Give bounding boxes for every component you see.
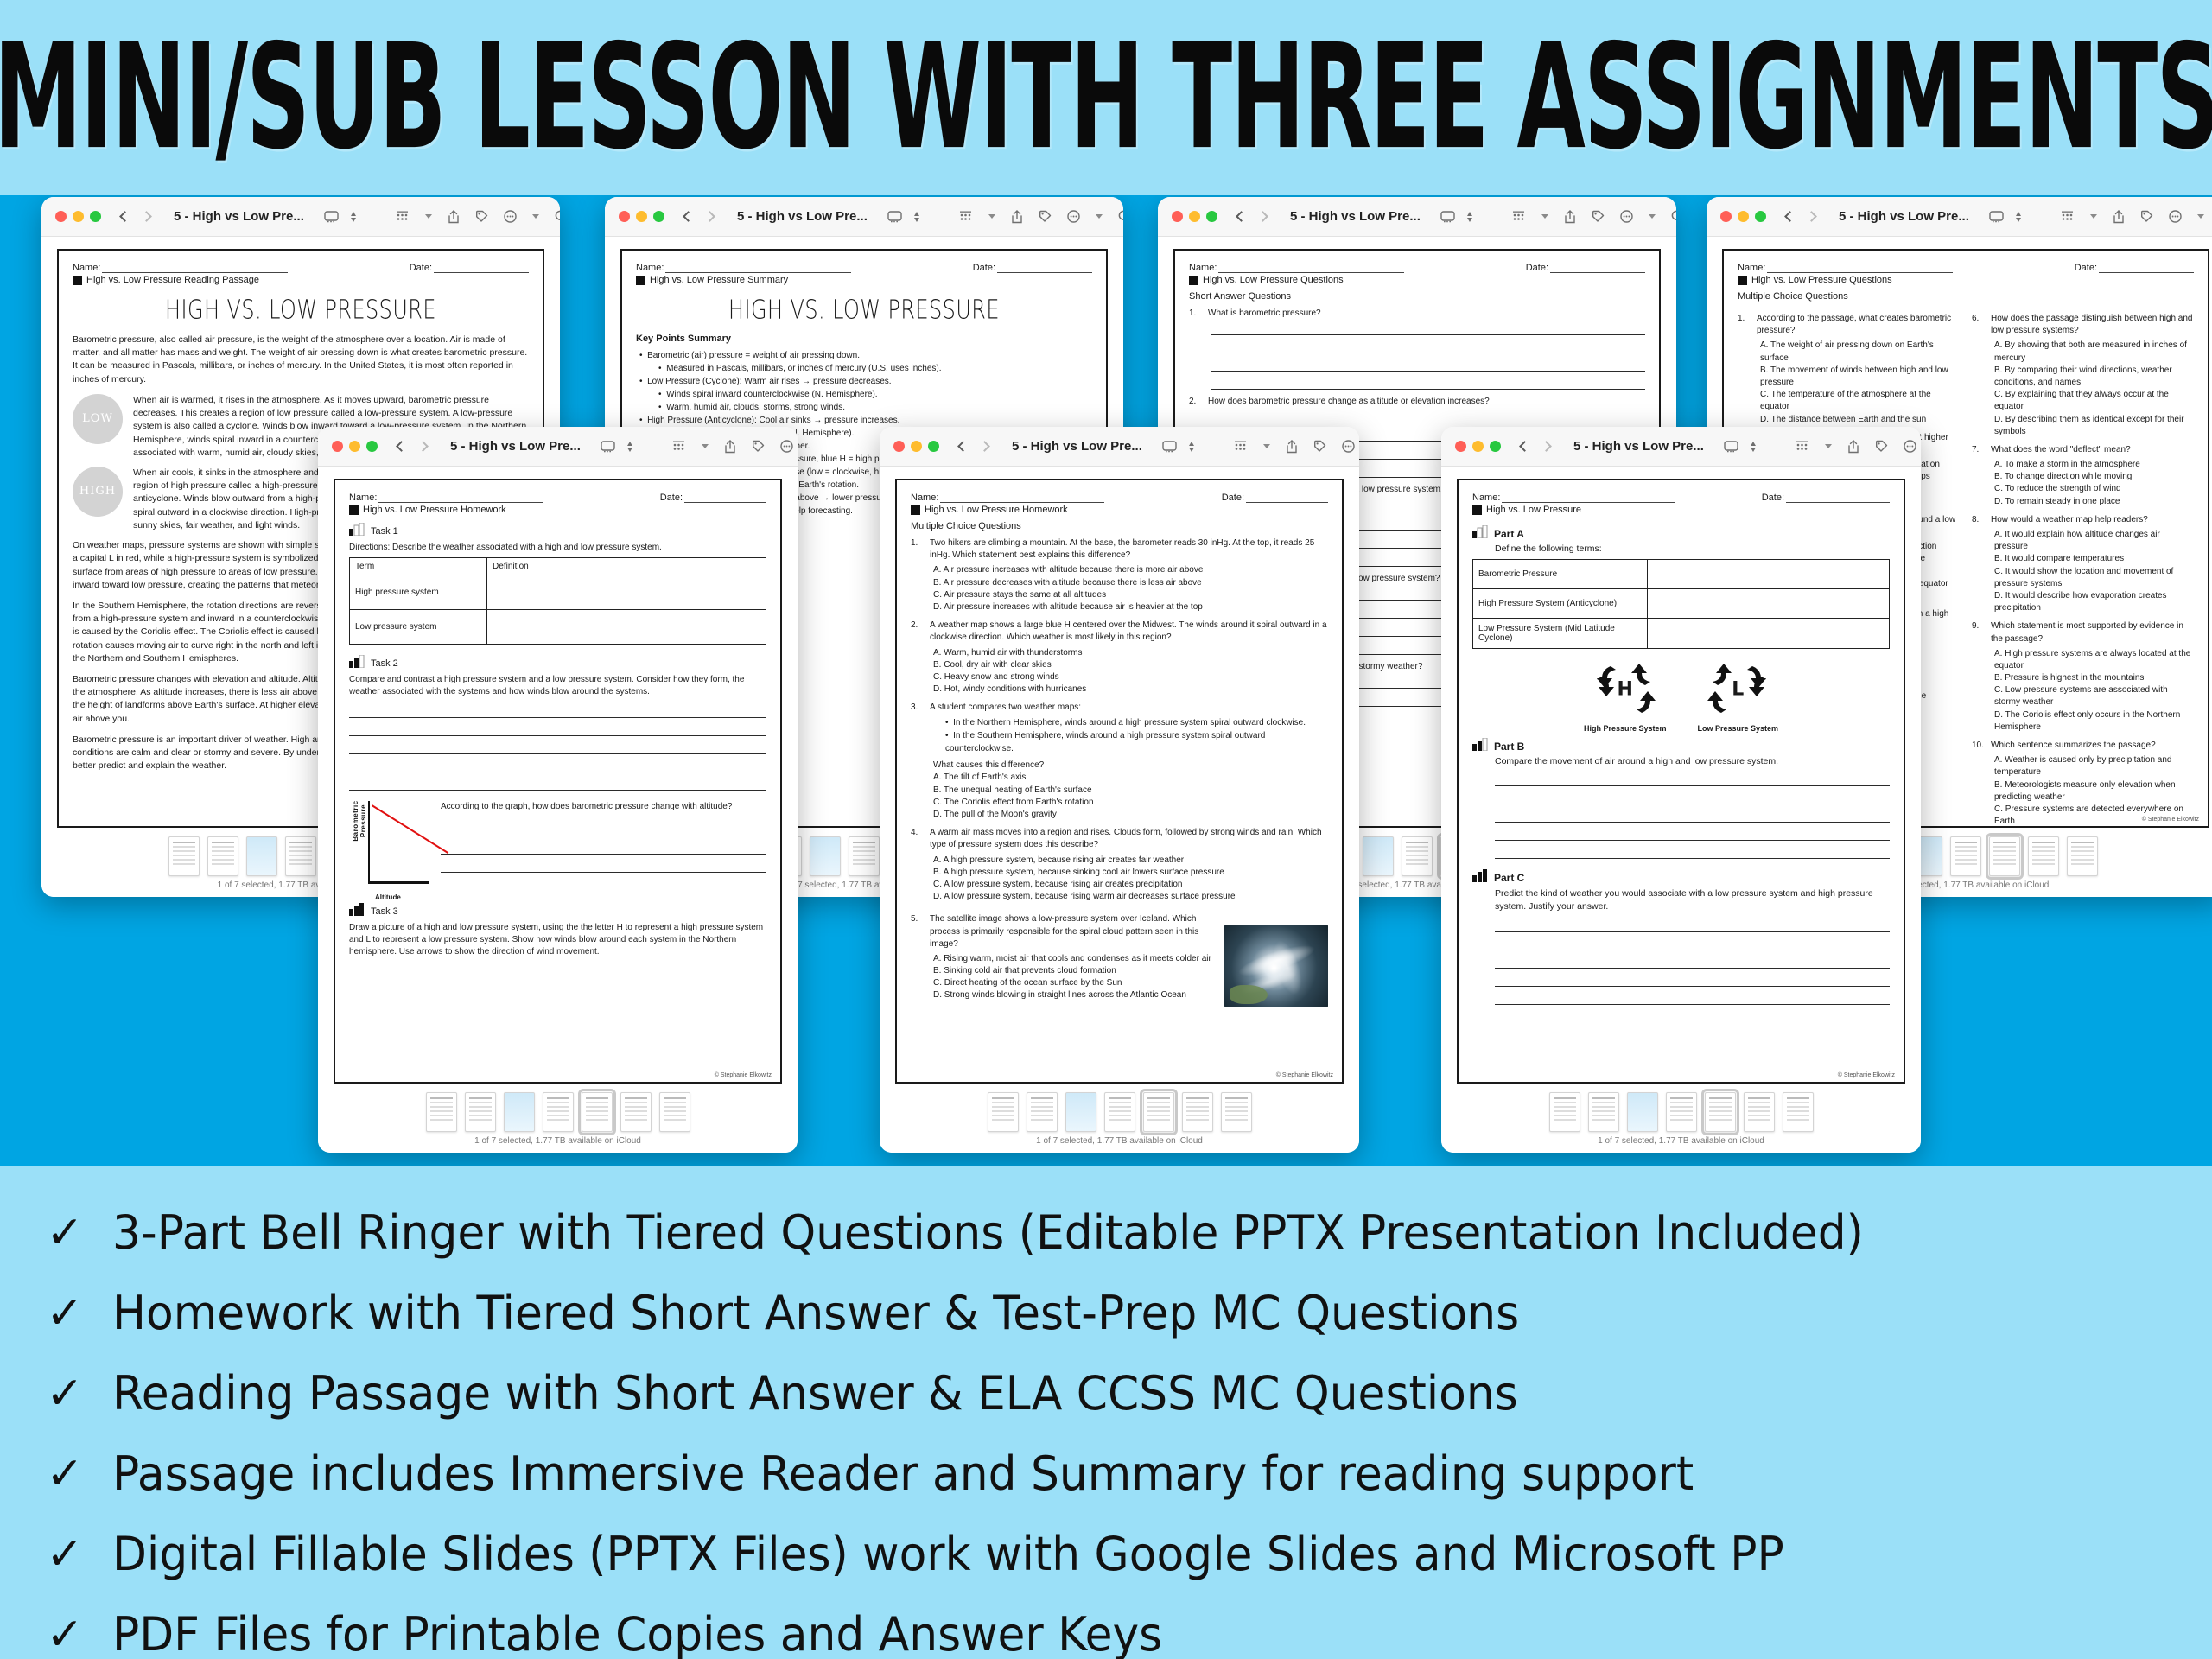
option-list: A. The weight of air pressing down on Ea… [1760, 340, 1960, 425]
feature-item: ✓ Passage includes Immersive Reader and … [45, 1433, 2160, 1514]
table-cell-definition[interactable] [1648, 560, 1890, 589]
question-item: 2.How does barometric pressure change as… [1189, 396, 1645, 408]
option-list: A. Rising warm, moist air that cools and… [933, 953, 1216, 1002]
window-toolbar: 5 - High vs Low Pre... [1158, 197, 1676, 237]
check-icon: ✓ [45, 1291, 85, 1336]
thumbnail-item-selected[interactable] [1705, 1092, 1736, 1132]
more-ellipsis-icon[interactable] [1342, 440, 1355, 453]
thumbnail-strip[interactable] [318, 1087, 798, 1134]
sub-bullet: • In the Southern Hemisphere, winds arou… [945, 729, 1328, 755]
thumbnail-item[interactable] [1221, 1092, 1252, 1132]
thumbnail-item[interactable] [285, 836, 316, 876]
thumbnail-item[interactable] [504, 1092, 535, 1132]
nav-buttons[interactable] [1237, 213, 1267, 220]
option-item[interactable]: D. By describing them as identical excep… [1994, 414, 2194, 438]
thumbnail-item[interactable] [1549, 1092, 1580, 1132]
option-item[interactable]: C. Low pressure systems are associated w… [1994, 684, 2194, 709]
back-chevron-icon[interactable] [1236, 211, 1247, 222]
stepper-icon[interactable] [2016, 212, 2021, 222]
option-item[interactable]: C. Direct heating of the ocean surface b… [933, 977, 1216, 989]
forward-chevron-icon[interactable] [979, 441, 990, 452]
display-icon[interactable] [1162, 441, 1177, 453]
window-title: 5 - High vs Low Pre... [450, 439, 581, 454]
forward-chevron-icon[interactable] [704, 211, 715, 222]
back-chevron-icon[interactable] [1519, 441, 1530, 452]
option-item[interactable]: A. It would explain how altitude changes… [1994, 529, 2194, 553]
more-ellipsis-icon[interactable] [1904, 440, 1916, 453]
display-icon[interactable] [887, 211, 902, 223]
option-item[interactable]: A. Weather is caused only by precipitati… [1994, 754, 2194, 779]
stepper-icon[interactable] [351, 212, 356, 222]
close-icon[interactable] [1720, 211, 1732, 222]
traffic-lights[interactable] [1720, 211, 1766, 222]
grid-view-icon[interactable] [397, 211, 410, 223]
nav-buttons[interactable] [397, 442, 427, 450]
option-item[interactable]: C. It would show the location and moveme… [1994, 566, 2194, 590]
graph-block: Barometric Pressure Altitude According t… [349, 801, 766, 891]
thumbnail-strip[interactable] [1441, 1087, 1921, 1134]
minimize-icon[interactable] [1189, 211, 1200, 222]
share-icon[interactable] [1564, 210, 1576, 224]
task-label: Task 2 [371, 658, 398, 669]
window-toolbar: 5 - High vs Low Pre... [1707, 197, 2212, 237]
window-toolbar: 5 - High vs Low Pre... [880, 427, 1359, 467]
thumbnail-item[interactable] [1666, 1092, 1697, 1132]
thumbnail-item[interactable] [246, 836, 277, 876]
part-label: Part A [1494, 528, 1524, 540]
answer-line[interactable] [1495, 773, 1890, 786]
table-row: High pressure system [350, 575, 766, 610]
stepper-icon[interactable] [1467, 212, 1472, 222]
close-icon[interactable] [619, 211, 630, 222]
traffic-lights[interactable] [55, 211, 101, 222]
grid-view-icon[interactable] [1796, 441, 1809, 453]
option-list: A. A high pressure system, because risin… [933, 855, 1328, 904]
close-icon[interactable] [1172, 211, 1183, 222]
high-pressure-diagram: H High Pressure System [1584, 658, 1667, 733]
traffic-lights[interactable] [893, 441, 939, 452]
worksheet-subtitle-row: High vs. Low Pressure [1472, 505, 1890, 515]
option-item[interactable]: A. To make a storm in the atmosphere [1994, 459, 2194, 471]
option-list: A. It would explain how altitude changes… [1994, 529, 2194, 614]
maximize-icon[interactable] [1755, 211, 1766, 222]
answer-line[interactable] [349, 723, 766, 736]
option-item[interactable]: B. It would compare temperatures [1994, 553, 2194, 565]
document-preview[interactable]: Name: Date: High vs. Low Pressure Homewo… [880, 467, 1359, 1087]
option-item[interactable]: B. Air pressure decreases with altitude … [933, 577, 1328, 589]
search-icon[interactable] [555, 210, 560, 223]
back-chevron-icon[interactable] [957, 441, 969, 452]
answer-line[interactable] [1495, 828, 1890, 841]
feature-text: PDF Files for Printable Copies and Answe… [112, 1607, 1162, 1659]
option-list: A. Warm, humid air with thunderstorms B.… [933, 647, 1328, 696]
partA-directions: Define the following terms: [1495, 543, 1890, 554]
option-item[interactable]: C. A low pressure system, because rising… [933, 879, 1328, 891]
search-icon[interactable] [1118, 210, 1123, 223]
back-chevron-icon[interactable] [119, 211, 130, 222]
forward-chevron-icon[interactable] [417, 441, 429, 452]
answer-line[interactable] [441, 823, 766, 836]
header-band: MINI/SUB LESSON WITH THREE ASSIGNMENTS [0, 0, 2212, 195]
list-item: • Measured in Pascals, millibars, or inc… [658, 362, 1092, 375]
table-header-cell: Definition [487, 558, 766, 575]
grid-view-icon[interactable] [1235, 441, 1248, 453]
feature-text: 3-Part Bell Ringer with Tiered Questions… [112, 1205, 1864, 1260]
option-item[interactable]: D. The Coriolis effect only occurs in th… [1994, 709, 2194, 734]
stepper-icon[interactable] [627, 442, 632, 452]
option-item[interactable]: A. The tilt of Earth's axis [933, 772, 1328, 784]
close-icon[interactable] [893, 441, 905, 452]
x-axis-label: Altitude [375, 893, 401, 901]
option-item[interactable]: A. By showing that both are measured in … [1994, 340, 2194, 364]
minimize-icon[interactable] [349, 441, 360, 452]
list-item: • Warm, humid air, clouds, storms, stron… [658, 401, 1092, 414]
maximize-icon[interactable] [1206, 211, 1217, 222]
chevron-down-icon[interactable] [1263, 444, 1270, 448]
option-list: A. To make a storm in the atmosphere B. … [1994, 459, 2194, 508]
option-item[interactable]: C. The Coriolis effect from Earth's rota… [933, 797, 1328, 809]
high-pressure-badge: HIGH [73, 467, 123, 517]
name-date-row: Name: Date: [73, 263, 529, 273]
option-item[interactable]: A. The weight of air pressing down on Ea… [1760, 340, 1960, 364]
answer-line[interactable] [349, 778, 766, 791]
option-item[interactable]: A. Warm, humid air with thunderstorms [933, 647, 1328, 659]
option-item[interactable]: D. Strong winds blowing in straight line… [933, 989, 1216, 1001]
maximize-icon[interactable] [366, 441, 378, 452]
thumbnail-item[interactable] [1950, 836, 1981, 876]
option-item[interactable]: C. Pressure systems are detected everywh… [1994, 804, 2194, 828]
more-ellipsis-icon[interactable] [780, 440, 793, 453]
thumbnail-item[interactable] [1783, 1092, 1814, 1132]
thumbnail-item[interactable] [1363, 836, 1394, 876]
answer-line[interactable] [1495, 810, 1890, 823]
share-icon[interactable] [1847, 440, 1859, 454]
tag-icon[interactable] [752, 440, 765, 453]
high-pressure-letter: H [1618, 679, 1633, 701]
answer-line[interactable] [349, 741, 766, 754]
nav-buttons[interactable] [959, 442, 988, 450]
thumbnail-item[interactable] [849, 836, 880, 876]
share-icon[interactable] [1011, 210, 1023, 224]
thumbnail-item-selected[interactable] [1989, 836, 2020, 876]
nav-buttons[interactable] [684, 213, 714, 220]
search-icon[interactable] [1671, 210, 1676, 223]
part-label: Part B [1494, 741, 1524, 753]
tag-icon[interactable] [2140, 210, 2153, 223]
traffic-lights[interactable] [1455, 441, 1501, 452]
question-item: 6.How does the passage distinguish betwe… [1972, 313, 2194, 337]
option-item[interactable]: D. A low pressure system, because rising… [933, 891, 1328, 903]
answer-line[interactable] [1211, 359, 1645, 372]
chevron-down-icon[interactable] [532, 214, 539, 219]
passage-paragraph-1: Barometric pressure, also called air pre… [73, 334, 529, 386]
question-item: 9.Which statement is most supported by e… [1972, 620, 2194, 645]
minimize-icon[interactable] [1738, 211, 1749, 222]
option-item[interactable]: B. Sinking cold air that prevents cloud … [933, 965, 1216, 977]
worksheet-subtitle-row: High vs. Low Pressure Reading Passage [73, 275, 529, 285]
task1-directions: Directions: Describe the weather associa… [349, 543, 766, 552]
back-chevron-icon[interactable] [683, 211, 694, 222]
thumbnail-strip[interactable] [880, 1087, 1359, 1134]
table-cell-definition[interactable] [487, 575, 766, 610]
thumbnail-item[interactable] [543, 1092, 574, 1132]
name-label: Name: [73, 263, 100, 273]
display-icon[interactable] [601, 441, 615, 453]
answer-line[interactable] [1211, 340, 1645, 353]
thumbnail-item[interactable] [1627, 1092, 1658, 1132]
option-item[interactable]: A. A high pressure system, because risin… [933, 855, 1328, 867]
option-item[interactable]: C. The temperature of the atmosphere at … [1760, 389, 1960, 413]
chevron-down-icon[interactable] [1541, 214, 1548, 219]
share-icon[interactable] [448, 210, 460, 224]
forward-chevron-icon[interactable] [1257, 211, 1268, 222]
name-label: Name: [349, 493, 377, 503]
chevron-down-icon[interactable] [425, 214, 432, 219]
name-label: Name: [1738, 263, 1765, 273]
chevron-down-icon[interactable] [1825, 444, 1832, 448]
grid-view-icon[interactable] [960, 211, 973, 223]
window-toolbar: 5 - High vs Low Pre... [605, 197, 1123, 237]
option-item[interactable]: B. Cool, dry air with clear skies [933, 659, 1328, 671]
name-date-row: Name: Date: [636, 263, 1092, 273]
bar-chart-icon [349, 523, 365, 540]
thumbnail-item-selected[interactable] [582, 1092, 613, 1132]
low-pressure-caption: Low Pressure System [1698, 724, 1779, 733]
option-item[interactable]: A. Air pressure increases with altitude … [933, 564, 1328, 576]
feature-item: ✓ PDF Files for Printable Copies and Ans… [45, 1594, 2160, 1659]
task-label: Task 1 [371, 526, 398, 537]
more-ellipsis-icon[interactable] [504, 210, 517, 223]
y-axis [368, 801, 370, 884]
grid-view-icon[interactable] [2062, 211, 2075, 223]
share-icon[interactable] [1286, 440, 1298, 454]
grid-view-icon[interactable] [1513, 211, 1526, 223]
tag-icon[interactable] [1875, 440, 1888, 453]
answer-line[interactable] [1495, 791, 1890, 804]
more-ellipsis-icon[interactable] [2169, 210, 2182, 223]
minimize-icon[interactable] [636, 211, 647, 222]
bar-chart-icon [1472, 738, 1488, 755]
document-preview[interactable]: Name: Date: High vs. Low Pressure Part A [1441, 467, 1921, 1087]
chevron-down-icon[interactable] [702, 444, 709, 448]
thumbnail-item[interactable] [2028, 836, 2059, 876]
answer-line[interactable] [1495, 974, 1890, 987]
answer-line[interactable] [1495, 956, 1890, 969]
answer-line[interactable] [349, 760, 766, 772]
table-cell-definition[interactable] [1648, 589, 1890, 619]
worksheet-subtitle-row: High vs. Low Pressure Questions [1189, 275, 1645, 285]
traffic-lights[interactable] [619, 211, 664, 222]
display-icon[interactable] [1989, 211, 2004, 223]
stepper-icon[interactable] [1189, 442, 1194, 452]
answer-line[interactable] [1495, 992, 1890, 1005]
trend-line [372, 804, 448, 854]
chevron-down-icon[interactable] [2197, 214, 2204, 219]
task3-directions: Draw a picture of a high and low pressur… [349, 922, 766, 958]
back-chevron-icon[interactable] [396, 441, 407, 452]
stepper-icon[interactable] [1751, 442, 1756, 452]
option-item[interactable]: A. Rising warm, moist air that cools and… [933, 953, 1216, 965]
grid-view-icon[interactable] [673, 441, 686, 453]
status-bar: 1 of 7 selected, 1.77 TB available on iC… [318, 1134, 798, 1153]
chevron-down-icon[interactable] [1649, 214, 1656, 219]
answer-line[interactable] [441, 842, 766, 855]
option-item[interactable]: D. To remain steady in one place [1994, 496, 2194, 508]
display-icon[interactable] [1440, 211, 1455, 223]
question-item: 4.A warm air mass moves into a region an… [911, 827, 1328, 851]
finder-window-bell-ringer[interactable]: 5 - High vs Low Pre... [1441, 427, 1921, 1153]
chevron-down-icon[interactable] [1096, 214, 1103, 219]
square-bullet-icon [911, 505, 920, 515]
thumbnail-item[interactable] [168, 836, 200, 876]
thumbnail-item[interactable] [207, 836, 238, 876]
display-icon[interactable] [324, 211, 339, 223]
feature-text: Digital Fillable Slides (PPTX Files) wor… [112, 1527, 1784, 1581]
feature-item: ✓ Homework with Tiered Short Answer & Te… [45, 1273, 2160, 1353]
forward-chevron-icon[interactable] [1806, 211, 1817, 222]
task1-header: Task 1 [349, 523, 766, 540]
maximize-icon[interactable] [928, 441, 939, 452]
check-icon: ✓ [45, 1211, 85, 1255]
option-item[interactable]: B. A high pressure system, because sinki… [933, 867, 1328, 879]
answer-line[interactable] [1495, 846, 1890, 859]
name-date-row: Name: Date: [1189, 263, 1645, 273]
name-date-row: Name: Date: [349, 493, 766, 503]
option-item[interactable]: D. It would describe how evaporation cre… [1994, 590, 2194, 614]
answer-line[interactable] [1495, 938, 1890, 950]
table-row: Barometric Pressure [1473, 560, 1890, 589]
minimize-icon[interactable] [73, 211, 84, 222]
maximize-icon[interactable] [90, 211, 101, 222]
thumbnail-item[interactable] [426, 1092, 457, 1132]
option-item[interactable]: A. High pressure systems are always loca… [1994, 648, 2194, 672]
option-item[interactable]: B. To change direction while moving [1994, 471, 2194, 483]
more-ellipsis-icon[interactable] [1067, 210, 1080, 223]
option-item[interactable]: C. Heavy snow and strong winds [933, 671, 1328, 683]
thumbnail-item[interactable] [988, 1092, 1019, 1132]
square-bullet-icon [73, 276, 82, 285]
option-item[interactable]: C. Air pressure stays the same at all al… [933, 589, 1328, 601]
feature-item: ✓ Reading Passage with Short Answer & EL… [45, 1353, 2160, 1433]
back-chevron-icon[interactable] [1784, 211, 1796, 222]
forward-chevron-icon[interactable] [141, 211, 152, 222]
thumbnail-item-selected[interactable] [1143, 1092, 1174, 1132]
nav-buttons[interactable] [1521, 442, 1550, 450]
feature-text: Homework with Tiered Short Answer & Test… [112, 1286, 1519, 1340]
thumbnail-item[interactable] [465, 1092, 496, 1132]
thumbnail-item[interactable] [1402, 836, 1433, 876]
answer-line[interactable] [1211, 410, 1645, 423]
finder-window-homework-mc[interactable]: 5 - High vs Low Pre... [880, 427, 1359, 1153]
close-icon[interactable] [1455, 441, 1466, 452]
document-preview[interactable]: Name: Date: High vs. Low Pressure Homewo… [318, 467, 798, 1087]
display-icon[interactable] [1724, 441, 1738, 453]
tag-icon[interactable] [1592, 210, 1605, 223]
answer-line[interactable] [1495, 919, 1890, 932]
name-label: Name: [1472, 493, 1500, 503]
square-bullet-icon [1189, 276, 1198, 285]
option-item[interactable]: D. Hot, windy conditions with hurricanes [933, 683, 1328, 696]
more-ellipsis-icon[interactable] [1620, 210, 1633, 223]
option-item[interactable]: D. Air pressure increases with altitude … [933, 601, 1328, 613]
traffic-lights[interactable] [1172, 211, 1217, 222]
close-icon[interactable] [332, 441, 343, 452]
traffic-lights[interactable] [332, 441, 378, 452]
thumbnail-item[interactable] [2067, 836, 2098, 876]
table-cell-term: High pressure system [350, 575, 487, 610]
list-item: • Winds spiral inward counterclockwise (… [658, 388, 1092, 401]
list-item: • Low Pressure (Cyclone): Warm air rises… [639, 375, 1092, 388]
option-item[interactable]: B. Pressure is highest in the mountains [1994, 672, 2194, 684]
tag-icon[interactable] [475, 210, 488, 223]
close-icon[interactable] [55, 211, 67, 222]
answer-line[interactable] [349, 705, 766, 718]
thumbnail-item[interactable] [659, 1092, 690, 1132]
chevron-down-icon[interactable] [2090, 214, 2097, 219]
thumbnail-item[interactable] [1027, 1092, 1058, 1132]
option-item[interactable]: C. To reduce the strength of wind [1994, 483, 2194, 495]
worksheet-title: HIGH VS. LOW PRESSURE [91, 295, 511, 325]
option-item[interactable]: B. The unequal heating of Earth's surfac… [933, 785, 1328, 797]
option-item[interactable]: D. The distance between Earth and the su… [1760, 414, 1960, 426]
chevron-down-icon[interactable] [988, 214, 995, 219]
option-item[interactable]: B. Meteorologists measure only elevation… [1994, 779, 2194, 804]
nav-buttons[interactable] [1786, 213, 1815, 220]
thumbnail-item[interactable] [1104, 1092, 1135, 1132]
satellite-cyclone-image [1224, 925, 1328, 1007]
forward-chevron-icon[interactable] [1541, 441, 1552, 452]
option-item[interactable]: D. The pull of the Moon's gravity [933, 809, 1328, 821]
task3-header: Task 3 [349, 903, 766, 920]
maximize-icon[interactable] [1490, 441, 1501, 452]
copyright-notice: © Stephanie Elkowitz [1276, 1072, 1333, 1078]
minimize-icon[interactable] [911, 441, 922, 452]
thumbnail-item[interactable] [810, 836, 841, 876]
option-item[interactable]: B. The movement of winds between high an… [1760, 365, 1960, 389]
thumbnail-item[interactable] [1744, 1092, 1775, 1132]
table-cell-definition[interactable] [1648, 619, 1890, 649]
question-item: 1.According to the passage, what creates… [1738, 313, 1960, 337]
worksheet-subtitle: High vs. Low Pressure [1486, 505, 1581, 515]
option-item[interactable]: B. By comparing their wind directions, w… [1994, 365, 2194, 389]
question-item: 1.What is barometric pressure? [1189, 308, 1645, 320]
bar-chart-icon [1472, 869, 1488, 887]
table-cell-definition[interactable] [487, 610, 766, 645]
answer-line[interactable] [441, 860, 766, 873]
thumbnail-item[interactable] [1065, 1092, 1096, 1132]
stepper-icon[interactable] [914, 212, 919, 222]
thumbnail-item[interactable] [1588, 1092, 1619, 1132]
check-icon: ✓ [45, 1452, 85, 1497]
section-heading: Key Points Summary [636, 334, 1092, 344]
share-icon[interactable] [724, 440, 736, 454]
tag-icon[interactable] [1313, 440, 1326, 453]
status-bar: 1 of 7 selected, 1.77 TB available on iC… [880, 1134, 1359, 1153]
option-item[interactable]: C. By explaining that they always occur … [1994, 389, 2194, 413]
thumbnail-item[interactable] [1182, 1092, 1213, 1132]
window-title: 5 - High vs Low Pre... [1012, 439, 1142, 454]
finder-window-homework-tasks[interactable]: 5 - High vs Low Pre... [318, 427, 798, 1153]
maximize-icon[interactable] [653, 211, 664, 222]
share-icon[interactable] [2113, 210, 2125, 224]
answer-line[interactable] [1211, 322, 1645, 335]
thumbnail-item[interactable] [620, 1092, 652, 1132]
tag-icon[interactable] [1039, 210, 1052, 223]
minimize-icon[interactable] [1472, 441, 1484, 452]
nav-buttons[interactable] [121, 213, 150, 220]
question-item: 8.How would a weather map help readers? [1972, 514, 2194, 526]
answer-line[interactable] [1211, 377, 1645, 390]
